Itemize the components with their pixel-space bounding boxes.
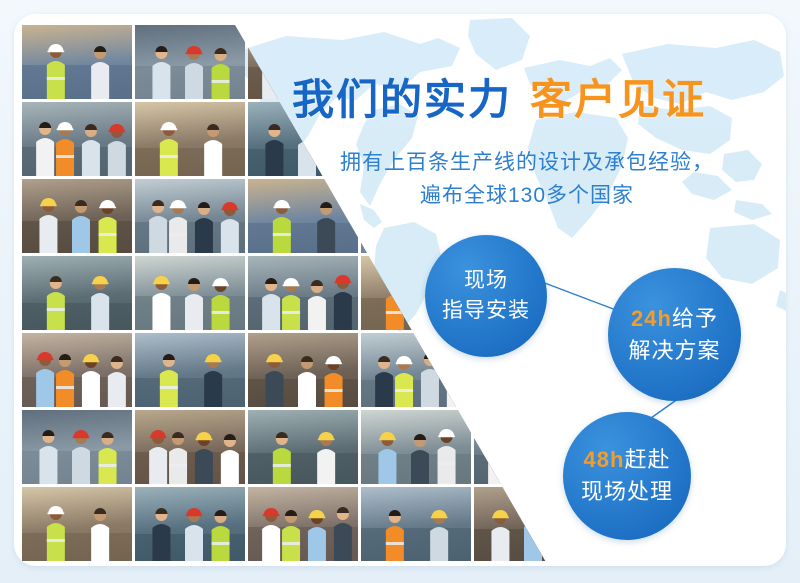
title-orange-part: 客户见证 [530, 76, 706, 123]
photo-thumbnail [22, 179, 132, 253]
photo-image [22, 256, 132, 330]
photo-image [22, 333, 132, 407]
photo-image [361, 487, 471, 561]
photo-image [22, 487, 132, 561]
photo-image [22, 179, 132, 253]
bubble3-line2: 现场处理 [581, 476, 673, 508]
page-title: 我们的实力客户见证 [292, 66, 762, 127]
photo-thumbnail [361, 487, 471, 561]
photo-image [248, 487, 358, 561]
bubble1-line2: 指导安装 [442, 296, 530, 326]
bubble-24h-solution[interactable]: 24h给予 解决方案 [608, 268, 741, 401]
photo-thumbnail [22, 25, 132, 99]
photo-thumbnail [135, 25, 245, 99]
photo-thumbnail [135, 333, 245, 407]
subtitle-line-2: 遍布全球130多个国家 [282, 179, 772, 212]
bubble3-line1: 48h赶赴 [584, 444, 671, 476]
photo-image [22, 25, 132, 99]
photo-image [22, 410, 132, 484]
photo-image [248, 333, 358, 407]
photo-thumbnail [135, 256, 245, 330]
photo-thumbnail [135, 179, 245, 253]
photo-thumbnail [361, 410, 471, 484]
bubble-48h-on-site[interactable]: 48h赶赴 现场处理 [563, 412, 691, 540]
photo-image [135, 256, 245, 330]
photo-thumbnail [248, 333, 358, 407]
photo-image [135, 179, 245, 253]
bubble2-highlight: 24h [631, 306, 672, 331]
white-card: 我们的实力客户见证 拥有上百条生产线的设计及承包经验， 遍布全球130多个国家 … [14, 14, 786, 566]
photo-thumbnail [135, 410, 245, 484]
title-blue-part: 我们的实力 [292, 76, 512, 123]
photo-image [248, 256, 358, 330]
photo-image [248, 410, 358, 484]
photo-thumbnail [248, 487, 358, 561]
bubble2-line2: 解决方案 [628, 335, 720, 367]
bubble3-line1-rest: 赶赴 [624, 447, 670, 472]
photo-image [135, 25, 245, 99]
photo-thumbnail [248, 410, 358, 484]
bubble3-highlight: 48h [584, 447, 625, 472]
connector-1-2 [542, 282, 616, 310]
bubble-on-site-guidance[interactable]: 现场 指导安装 [425, 235, 547, 357]
subtitle-line-1: 拥有上百条生产线的设计及承包经验， [282, 146, 772, 179]
photo-thumbnail [22, 487, 132, 561]
photo-image [361, 410, 471, 484]
photo-thumbnail [135, 102, 245, 176]
photo-thumbnail [22, 102, 132, 176]
photo-thumbnail [22, 410, 132, 484]
photo-image [135, 102, 245, 176]
photo-thumbnail [22, 333, 132, 407]
photo-thumbnail [135, 487, 245, 561]
bubble1-line1: 现场 [464, 266, 508, 296]
photo-thumbnail [248, 256, 358, 330]
photo-image [135, 410, 245, 484]
bubble2-line1-rest: 给予 [672, 306, 718, 331]
photo-image [135, 487, 245, 561]
photo-thumbnail [22, 256, 132, 330]
photo-image [135, 333, 245, 407]
poster-canvas: 我们的实力客户见证 拥有上百条生产线的设计及承包经验， 遍布全球130多个国家 … [0, 0, 800, 583]
bubble2-line1: 24h给予 [631, 303, 718, 335]
photo-image [22, 102, 132, 176]
subtitle: 拥有上百条生产线的设计及承包经验， 遍布全球130多个国家 [282, 146, 772, 212]
